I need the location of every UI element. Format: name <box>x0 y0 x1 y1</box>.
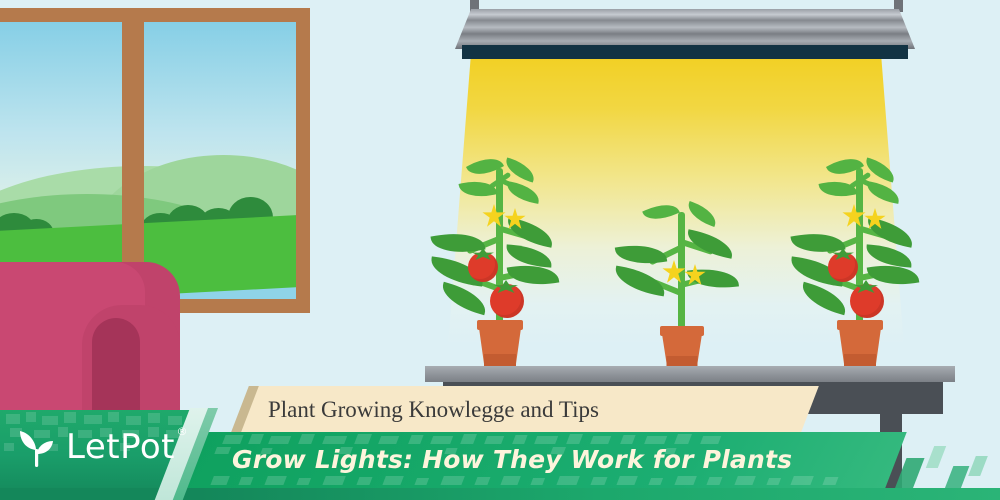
window-glass <box>0 22 296 299</box>
armchair-armrest-inner <box>92 318 140 416</box>
plant-leaf <box>798 282 850 315</box>
banner-title: Grow Lights: How They Work for Plants <box>232 440 892 480</box>
plant-leaf <box>615 241 667 269</box>
grow-light-panel <box>462 45 908 59</box>
brand-wordmark: LetPot ® <box>66 427 175 467</box>
brand-logo[interactable]: LetPot ® <box>14 424 175 470</box>
plant-leaf <box>502 157 537 182</box>
tomato-plant-middle <box>612 200 752 370</box>
plant-leaf <box>865 181 901 204</box>
plant-leaf <box>642 198 680 226</box>
plant-leaf <box>438 282 490 315</box>
grow-light-housing <box>455 9 915 49</box>
plant-leaf <box>865 244 912 267</box>
plant-leaf <box>459 176 498 201</box>
window-mullion <box>122 22 144 299</box>
banner-bottom-fill <box>0 488 1000 500</box>
tomato-plant-right <box>780 160 940 370</box>
scene-stage: LetPot ® Plant Growing Knowlegge and Tip… <box>0 0 1000 500</box>
plant-leaf <box>505 244 552 267</box>
brand-name: LetPot <box>66 427 175 467</box>
banner-subtitle: Plant Growing Knowlegge and Tips <box>268 392 788 428</box>
plant-pot-band <box>844 354 876 366</box>
plant-table-top <box>425 366 955 382</box>
leaf-sprout-icon <box>14 424 60 470</box>
plant-leaf <box>819 176 858 201</box>
plant-pot-band <box>484 354 516 366</box>
plant-leaf <box>684 201 720 227</box>
plant-leaf <box>862 157 897 182</box>
tomato-plant-left <box>420 160 580 370</box>
registered-mark-icon: ® <box>177 425 189 438</box>
plant-leaf <box>505 181 541 204</box>
